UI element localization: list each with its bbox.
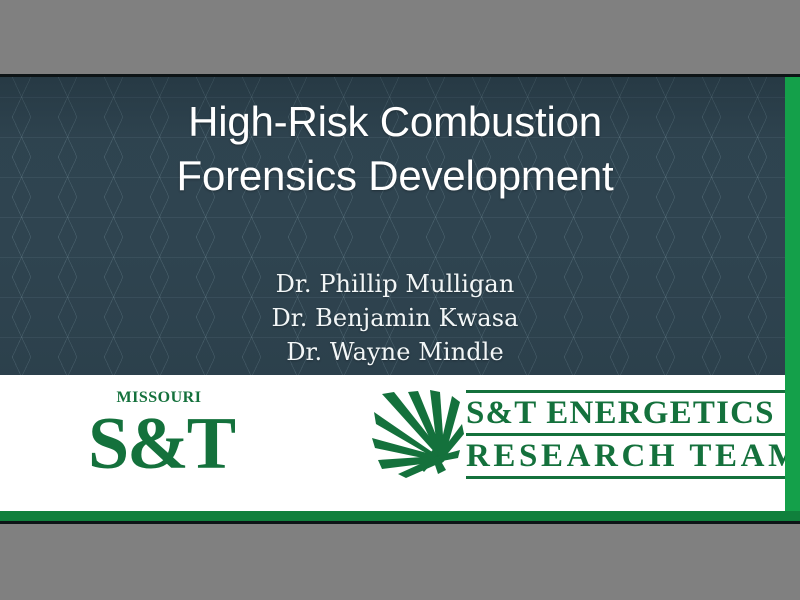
- slide-title: High-Risk Combustion Forensics Developme…: [0, 95, 790, 203]
- presentation-slide: High-Risk Combustion Forensics Developme…: [0, 74, 800, 524]
- energetics-wordmark: S&T ENERGETICS RESEARCH TEAM: [466, 390, 800, 479]
- logo-band: Missouri S&T: [0, 375, 785, 512]
- energetics-line-2: RESEARCH TEAM: [466, 436, 800, 479]
- author-line-2: Dr. Benjamin Kwasa: [0, 301, 790, 335]
- author-line-3: Dr. Wayne Mindle: [0, 335, 790, 369]
- slide-dark-background: High-Risk Combustion Forensics Developme…: [0, 77, 800, 375]
- explosion-burst-icon: [372, 390, 464, 478]
- energetics-line-1: S&T ENERGETICS: [466, 390, 800, 436]
- title-line-2: Forensics Development: [0, 149, 790, 203]
- green-right-accent-bar: [785, 77, 800, 521]
- green-bottom-accent-bar: [0, 511, 800, 521]
- author-list: Dr. Phillip Mulligan Dr. Benjamin Kwasa …: [0, 267, 790, 369]
- energetics-research-team-logo: S&T ENERGETICS RESEARCH TEAM: [372, 387, 772, 481]
- author-line-1: Dr. Phillip Mulligan: [0, 267, 790, 301]
- st-initials: S&T: [88, 407, 230, 481]
- slide-viewer: High-Risk Combustion Forensics Developme…: [0, 0, 800, 600]
- missouri-st-logo: Missouri S&T: [88, 383, 230, 481]
- title-line-1: High-Risk Combustion: [0, 95, 790, 149]
